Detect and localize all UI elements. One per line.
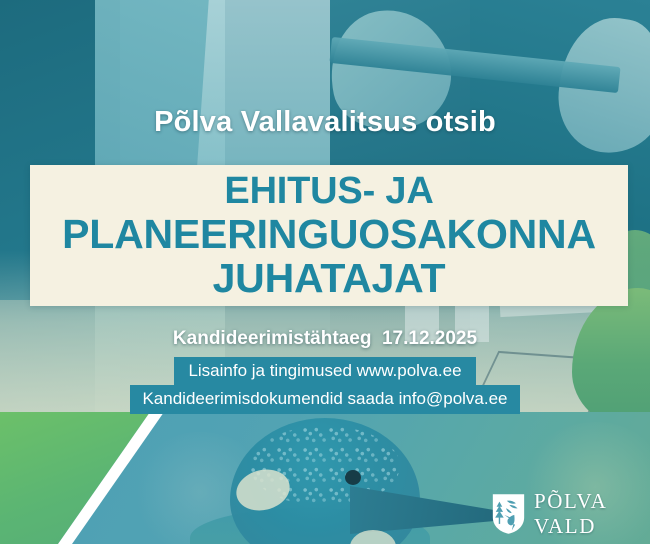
- coat-of-arms-shield-icon: [492, 489, 525, 539]
- logo-wordmark: PÕLVA VALD: [534, 489, 650, 539]
- job-title-line-3: JUHATAJAT: [62, 256, 596, 300]
- job-title: EHITUS- JA PLANEERINGUOSAKONNA JUHATAJAT: [54, 171, 604, 301]
- job-advert-poster: Põlva Vallavalitsus otsib EHITUS- JA PLA…: [0, 0, 650, 544]
- info-line-email[interactable]: Kandideerimisdokumendid saada info@polva…: [130, 385, 519, 414]
- employer-kicker: Põlva Vallavalitsus otsib: [0, 106, 650, 139]
- polva-vald-logo: PÕLVA VALD: [492, 489, 650, 539]
- job-title-line-2: PLANEERINGUOSAKONNA: [62, 212, 596, 256]
- contact-info-block: Lisainfo ja tingimused www.polva.ee Kand…: [0, 357, 650, 414]
- job-title-line-1: EHITUS- JA: [62, 171, 596, 212]
- application-deadline: Kandideerimistähtaeg 17.12.2025: [0, 328, 650, 350]
- job-title-panel: EHITUS- JA PLANEERINGUOSAKONNA JUHATAJAT: [30, 165, 628, 306]
- info-line-website[interactable]: Lisainfo ja tingimused www.polva.ee: [174, 357, 475, 385]
